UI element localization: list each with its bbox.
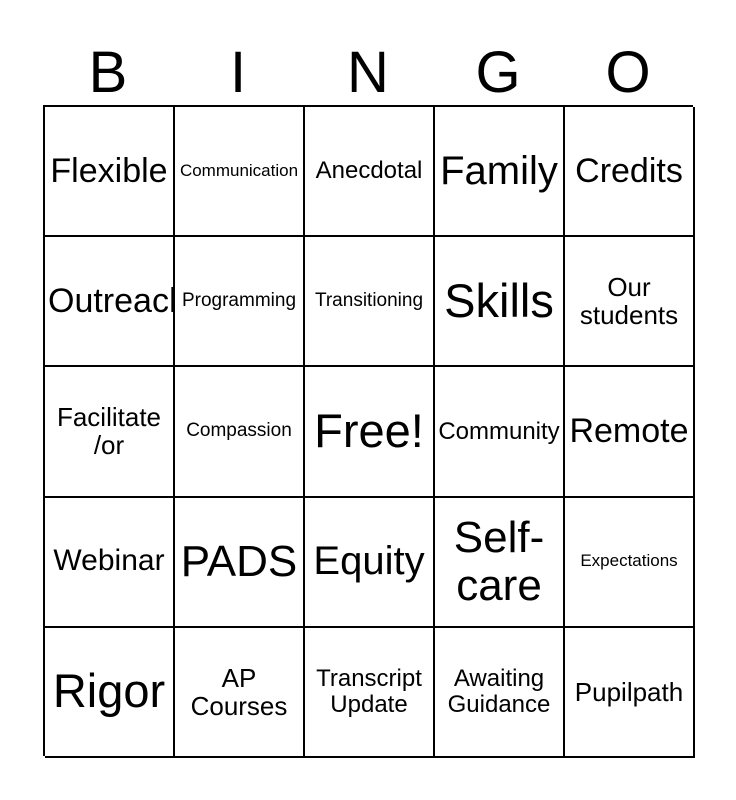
bingo-cell[interactable]: Programming <box>175 237 305 367</box>
bingo-cell[interactable]: Facilitate /or <box>45 367 175 497</box>
bingo-cell-label: Awaiting Guidance <box>438 666 560 718</box>
bingo-cell[interactable]: Transitioning <box>305 237 435 367</box>
bingo-cell-label: Skills <box>438 276 560 327</box>
bingo-cell[interactable]: Rigor <box>45 628 175 758</box>
bingo-cell-label: Rigor <box>48 666 170 717</box>
bingo-cell[interactable]: Credits <box>565 107 695 237</box>
bingo-cell[interactable]: Skills <box>435 237 565 367</box>
bingo-cell-label: Expectations <box>568 552 690 570</box>
bingo-cell[interactable]: Outreach <box>45 237 175 367</box>
bingo-card: B I N G O Flexible Communication Anecdot… <box>0 0 736 800</box>
bingo-cell[interactable]: Awaiting Guidance <box>435 628 565 758</box>
bingo-cell-label: Credits <box>568 153 690 190</box>
bingo-cell-label: Anecdotal <box>308 158 430 184</box>
bingo-cell[interactable]: PADS <box>175 498 305 628</box>
bingo-cell-label: Transcript Update <box>308 666 430 718</box>
bingo-cell[interactable]: Communication <box>175 107 305 237</box>
bingo-cell-label: Transitioning <box>308 291 430 312</box>
bingo-header-letter-i: I <box>173 24 303 102</box>
bingo-cell[interactable]: Pupilpath <box>565 628 695 758</box>
bingo-cell-label: Communication <box>178 162 300 180</box>
bingo-header: B I N G O <box>43 24 693 102</box>
bingo-cell-label: Facilitate /or <box>48 403 170 459</box>
bingo-header-letter-g: G <box>433 24 563 102</box>
bingo-cell-label: Webinar <box>48 545 170 577</box>
bingo-cell[interactable]: Self- care <box>435 498 565 628</box>
bingo-cell-label: Programming <box>178 291 300 312</box>
bingo-cell-free[interactable]: Free! <box>305 367 435 497</box>
bingo-cell[interactable]: Transcript Update <box>305 628 435 758</box>
bingo-cell-label: Self- care <box>438 514 560 609</box>
bingo-cell-label: Community <box>438 419 560 445</box>
bingo-cell-label: Compassion <box>178 421 300 442</box>
bingo-cell[interactable]: Our students <box>565 237 695 367</box>
bingo-cell[interactable]: Community <box>435 367 565 497</box>
bingo-cell-label: Remote <box>568 413 690 450</box>
bingo-cell-label: Pupilpath <box>568 678 690 706</box>
bingo-cell-label: Family <box>438 150 560 193</box>
bingo-cell[interactable]: Flexible <box>45 107 175 237</box>
bingo-cell-label: Free! <box>308 406 430 457</box>
bingo-grid: Flexible Communication Anecdotal Family … <box>43 105 693 756</box>
bingo-cell[interactable]: Remote <box>565 367 695 497</box>
bingo-cell[interactable]: AP Courses <box>175 628 305 758</box>
bingo-cell-label: PADS <box>178 538 300 586</box>
bingo-cell[interactable]: Compassion <box>175 367 305 497</box>
bingo-cell-label: AP Courses <box>178 664 300 720</box>
bingo-cell-label: Outreach <box>48 283 170 320</box>
bingo-cell[interactable]: Family <box>435 107 565 237</box>
bingo-header-letter-o: O <box>563 24 693 102</box>
bingo-cell[interactable]: Anecdotal <box>305 107 435 237</box>
bingo-cell-label: Our students <box>568 273 690 329</box>
bingo-header-letter-b: B <box>43 24 173 102</box>
bingo-cell[interactable]: Webinar <box>45 498 175 628</box>
bingo-header-letter-n: N <box>303 24 433 102</box>
bingo-cell[interactable]: Expectations <box>565 498 695 628</box>
bingo-cell-label: Equity <box>308 540 430 583</box>
bingo-cell[interactable]: Equity <box>305 498 435 628</box>
bingo-cell-label: Flexible <box>48 153 170 190</box>
